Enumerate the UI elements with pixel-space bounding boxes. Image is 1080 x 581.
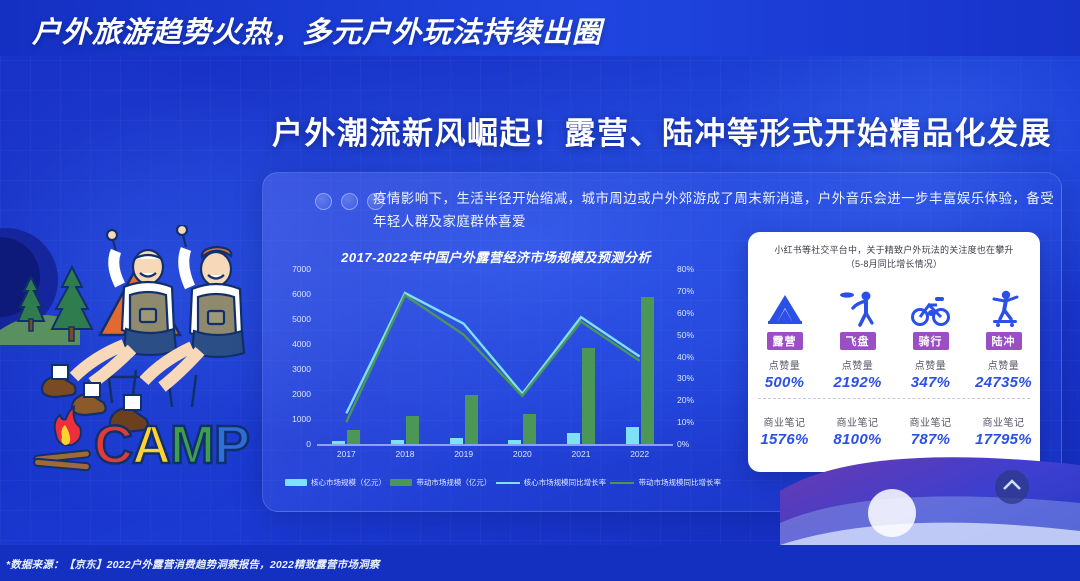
legend-item: 带动市场规模（亿元） (390, 477, 491, 488)
like-label: 点赞量 (821, 357, 894, 372)
note-label: 商业笔记 (821, 414, 894, 429)
svg-text:M: M (170, 415, 215, 475)
y-tick-right: 60% (671, 309, 715, 318)
activity-column: 露营点赞量500% (748, 279, 821, 391)
chart-legend: 核心市场规模（亿元）带动市场规模（亿元）核心市场规模同比增长率带动市场规模同比增… (285, 477, 721, 488)
note-label: 商业笔记 (748, 414, 821, 429)
market-size-chart: 2017-2022年中国户外露营经济市场规模及预测分析 010002000300… (271, 247, 721, 499)
like-value: 24735% (967, 374, 1040, 391)
chart-lines (317, 269, 669, 444)
y-tick-left: 5000 (271, 315, 311, 324)
card-heading: 小红书等社交平台中，关于精致户外玩法的关注度也在攀升 （5-8月同比增长情况） (748, 232, 1040, 271)
frisbee-icon (821, 279, 894, 327)
card-divider (758, 398, 1030, 399)
y-tick-right: 10% (671, 418, 715, 427)
x-tick-label: 2017 (337, 449, 356, 459)
chart-y-axis-left: 01000200030004000500060007000 (271, 269, 311, 444)
svg-text:P: P (214, 415, 250, 475)
camping-illustration: C A M P (0, 225, 250, 490)
note-label: 商业笔记 (967, 414, 1040, 429)
x-tick-label: 2021 (572, 449, 591, 459)
bicycle-icon (894, 279, 967, 327)
activity-tag: 飞盘 (840, 332, 876, 350)
activity-column: 骑行点赞量347% (894, 279, 967, 391)
x-tick-label: 2019 (454, 449, 473, 459)
chart-line (346, 293, 639, 413)
legend-label: 核心市场规模（亿元） (311, 477, 386, 488)
legend-label: 核心市场规模同比增长率 (524, 477, 607, 488)
page-title: 户外旅游趋势火热，多元户外玩法持续出圈 (32, 9, 602, 51)
activity-tag: 骑行 (913, 332, 949, 350)
legend-item: 核心市场规模（亿元） (285, 477, 386, 488)
activity-tag: 露营 (767, 332, 803, 350)
like-value: 500% (748, 374, 821, 391)
y-tick-left: 1000 (271, 415, 311, 424)
dot-icon (315, 193, 332, 210)
panel-paragraph: 疫情影响下，生活半径开始缩减，城市周边或户外郊游成了周末新消遣，户外音乐会进一步… (373, 187, 1061, 233)
like-label: 点赞量 (894, 357, 967, 372)
y-tick-left: 6000 (271, 290, 311, 299)
chart-baseline (317, 444, 673, 446)
page-subtitle: 户外潮流新风崛起！露营、陆冲等形式开始精品化发展 (272, 108, 1052, 153)
activity-tag: 陆冲 (986, 332, 1022, 350)
legend-label: 带动市场规模（亿元） (416, 477, 491, 488)
chart-x-axis: 201720182019202020212022 (317, 449, 669, 465)
data-source-note: *数据来源：【京东】2022户外露营消费趋势洞察报告，2022精致露营市场洞察 (6, 557, 380, 572)
dot-icon (341, 193, 358, 210)
legend-label: 带动市场规模同比增长率 (638, 477, 721, 488)
skateboard-icon (967, 279, 1040, 327)
activity-columns: 露营点赞量500%飞盘点赞量2192%骑行点赞量347%陆冲点赞量24735% (748, 279, 1040, 391)
activity-column: 陆冲点赞量24735% (967, 279, 1040, 391)
legend-bar-swatch (285, 479, 307, 486)
like-value: 347% (894, 374, 967, 391)
legend-item: 核心市场规模同比增长率 (496, 477, 607, 488)
legend-bar-swatch (390, 479, 412, 486)
y-tick-right: 30% (671, 374, 715, 383)
y-tick-right: 80% (671, 265, 715, 274)
like-value: 2192% (821, 374, 894, 391)
card-heading-line1: 小红书等社交平台中，关于精致户外玩法的关注度也在攀升 (762, 243, 1026, 257)
chart-plot-area (317, 269, 669, 444)
like-label: 点赞量 (967, 357, 1040, 372)
svg-text:C: C (94, 415, 133, 475)
svg-text:A: A (132, 415, 171, 475)
y-tick-left: 3000 (271, 365, 311, 374)
legend-line-swatch (610, 482, 634, 484)
y-tick-left: 4000 (271, 340, 311, 349)
y-tick-right: 0% (671, 440, 715, 449)
x-tick-label: 2018 (396, 449, 415, 459)
legend-line-swatch (496, 482, 520, 484)
y-tick-right: 40% (671, 352, 715, 361)
chart-title: 2017-2022年中国户外露营经济市场规模及预测分析 (271, 247, 721, 266)
y-tick-left: 2000 (271, 390, 311, 399)
y-tick-right: 50% (671, 330, 715, 339)
y-tick-right: 70% (671, 287, 715, 296)
chart-y-axis-right: 0%10%20%30%40%50%60%70%80% (671, 269, 715, 444)
activity-column: 飞盘点赞量2192% (821, 279, 894, 391)
x-tick-label: 2022 (630, 449, 649, 459)
card-heading-line2: （5-8月同比增长情况） (762, 257, 1026, 271)
like-label: 点赞量 (748, 357, 821, 372)
x-tick-label: 2020 (513, 449, 532, 459)
tent-icon (748, 279, 821, 327)
y-tick-right: 20% (671, 396, 715, 405)
legend-item: 带动市场规模同比增长率 (610, 477, 721, 488)
y-tick-left: 0 (271, 440, 311, 449)
note-label: 商业笔记 (894, 414, 967, 429)
y-tick-left: 7000 (271, 265, 311, 274)
